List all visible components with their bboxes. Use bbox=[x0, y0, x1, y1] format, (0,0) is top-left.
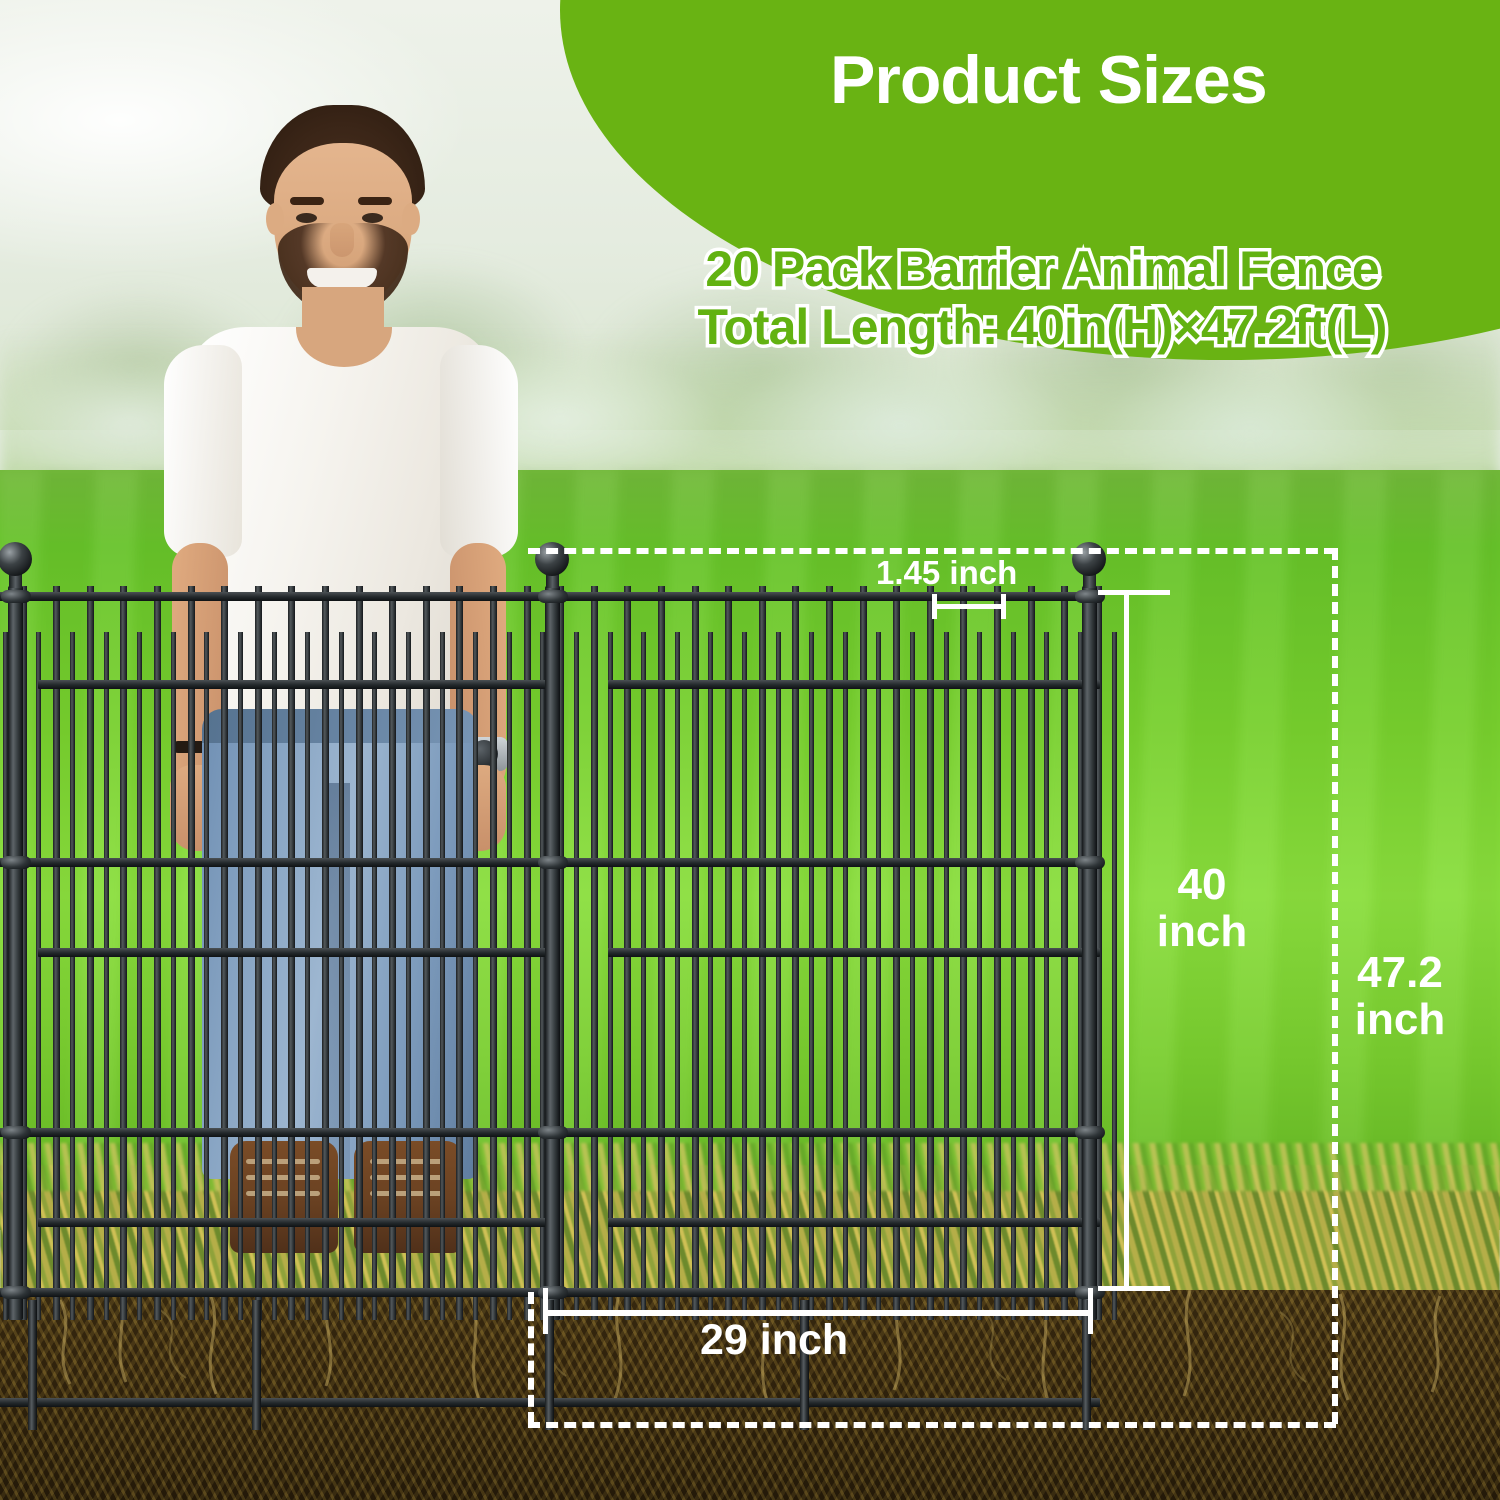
fence-bar bbox=[910, 632, 915, 1320]
fence-rail bbox=[550, 592, 1100, 601]
height-40-label: 40 inch bbox=[1142, 862, 1262, 955]
fence-bar bbox=[305, 632, 310, 1320]
total-height-dash-top bbox=[528, 548, 1336, 554]
bar-gap-marker-line bbox=[932, 604, 1006, 609]
eyebrow-right bbox=[358, 197, 392, 205]
height-40-line bbox=[1124, 592, 1129, 1290]
fence-bar bbox=[944, 632, 949, 1320]
fence-bar bbox=[776, 632, 781, 1320]
smile bbox=[307, 268, 377, 288]
fence-bar bbox=[36, 632, 41, 1320]
rail-clip bbox=[538, 590, 568, 603]
sleeve-left bbox=[164, 345, 242, 557]
fence-bar bbox=[708, 632, 713, 1320]
product-size-infographic: {"panels":[{"x":-20,"w":570},{"x":550,"w… bbox=[0, 0, 1500, 1500]
fence-bar bbox=[440, 632, 445, 1320]
fence-rail bbox=[0, 592, 550, 601]
fence-bar bbox=[641, 632, 646, 1320]
fence-bar bbox=[238, 632, 243, 1320]
fence-bar bbox=[809, 632, 814, 1320]
headline-line-1: 20 Pack Barrier Animal Fence bbox=[592, 240, 1492, 298]
fence-rail bbox=[38, 680, 550, 689]
fence-rail bbox=[0, 858, 550, 867]
fence-bottom-rail bbox=[0, 1288, 550, 1297]
ear-right bbox=[402, 203, 420, 235]
fence-rail bbox=[608, 680, 1100, 689]
fence-bar bbox=[272, 632, 277, 1320]
fence-post bbox=[1082, 586, 1097, 1320]
panel-width-tick-left bbox=[543, 1288, 548, 1334]
total-height-label: 47.2 inch bbox=[1330, 950, 1470, 1043]
product-headline: 20 Pack Barrier Animal Fence Total Lengt… bbox=[592, 240, 1492, 356]
height-40-tick-top bbox=[1098, 590, 1170, 595]
fence-bar bbox=[372, 632, 377, 1320]
fence-post bbox=[545, 586, 560, 1320]
barrier-fence: {"panels":[{"x":-20,"w":570},{"x":550,"w… bbox=[0, 540, 1120, 1330]
rail-clip bbox=[1075, 856, 1105, 869]
fence-rail bbox=[38, 948, 550, 957]
fence-bar bbox=[675, 632, 680, 1320]
total-height-value: 47.2 inch bbox=[1355, 948, 1445, 1044]
fence-rail bbox=[550, 1128, 1100, 1137]
rail-clip bbox=[1, 1286, 31, 1299]
fence-bar bbox=[742, 632, 747, 1320]
total-height-dash-left bbox=[528, 1292, 534, 1424]
fence-rail bbox=[0, 1128, 550, 1137]
bar-gap-tick-left bbox=[932, 594, 937, 619]
eyebrow-left bbox=[290, 197, 324, 205]
fence-bar bbox=[339, 632, 344, 1320]
fence-rail bbox=[608, 948, 1100, 957]
fence-bar bbox=[171, 632, 176, 1320]
fence-rail bbox=[550, 858, 1100, 867]
fence-bar bbox=[204, 632, 209, 1320]
ball-finial-icon bbox=[0, 542, 32, 576]
rail-clip bbox=[1, 1126, 31, 1139]
rail-clip bbox=[538, 1126, 568, 1139]
eye-left bbox=[296, 213, 317, 223]
bar-gap-label: 1.45 inch bbox=[876, 556, 1106, 591]
rail-clip bbox=[538, 856, 568, 869]
fence-bar bbox=[406, 632, 411, 1320]
fence-bar bbox=[574, 632, 579, 1320]
height-40-value: 40 inch bbox=[1157, 860, 1247, 956]
fence-bar bbox=[1044, 632, 1049, 1320]
panel-width-tick-right bbox=[1088, 1288, 1093, 1334]
rail-clip bbox=[1, 856, 31, 869]
fence-bar bbox=[507, 632, 512, 1320]
fence-bar bbox=[104, 632, 109, 1320]
fence-bar bbox=[1112, 632, 1117, 1320]
fence-post bbox=[8, 586, 23, 1320]
total-height-dash-bottom bbox=[528, 1422, 1336, 1428]
fence-bar bbox=[591, 586, 598, 1320]
fence-bar bbox=[473, 632, 478, 1320]
ground-stake bbox=[28, 1300, 37, 1430]
fence-bar bbox=[876, 632, 881, 1320]
rail-clip bbox=[1, 590, 31, 603]
fence-rail bbox=[38, 1218, 550, 1227]
eye-right bbox=[362, 213, 383, 223]
ground-stake bbox=[252, 1300, 261, 1430]
headline-line-2: Total Length: 40in(H)×47.2ft(L) bbox=[592, 298, 1492, 356]
fence-bar bbox=[977, 632, 982, 1320]
bar-gap-tick-right bbox=[1001, 594, 1006, 619]
fence-bar bbox=[1011, 632, 1016, 1320]
ear-left bbox=[266, 203, 284, 235]
fence-rail bbox=[550, 1398, 1100, 1407]
panel-width-label: 29 inch bbox=[700, 1318, 980, 1364]
fence-bottom-rail bbox=[550, 1288, 1100, 1297]
fence-bar bbox=[137, 632, 142, 1320]
fence-rail bbox=[608, 1218, 1100, 1227]
sleeve-right bbox=[440, 345, 518, 557]
fence-bar bbox=[843, 632, 848, 1320]
height-40-tick-bottom bbox=[1098, 1286, 1170, 1291]
rail-clip bbox=[1075, 1126, 1105, 1139]
fence-rail bbox=[0, 1398, 550, 1407]
page-title: Product Sizes bbox=[830, 35, 1500, 125]
fence-bar bbox=[608, 632, 613, 1320]
fence-bar bbox=[70, 632, 75, 1320]
